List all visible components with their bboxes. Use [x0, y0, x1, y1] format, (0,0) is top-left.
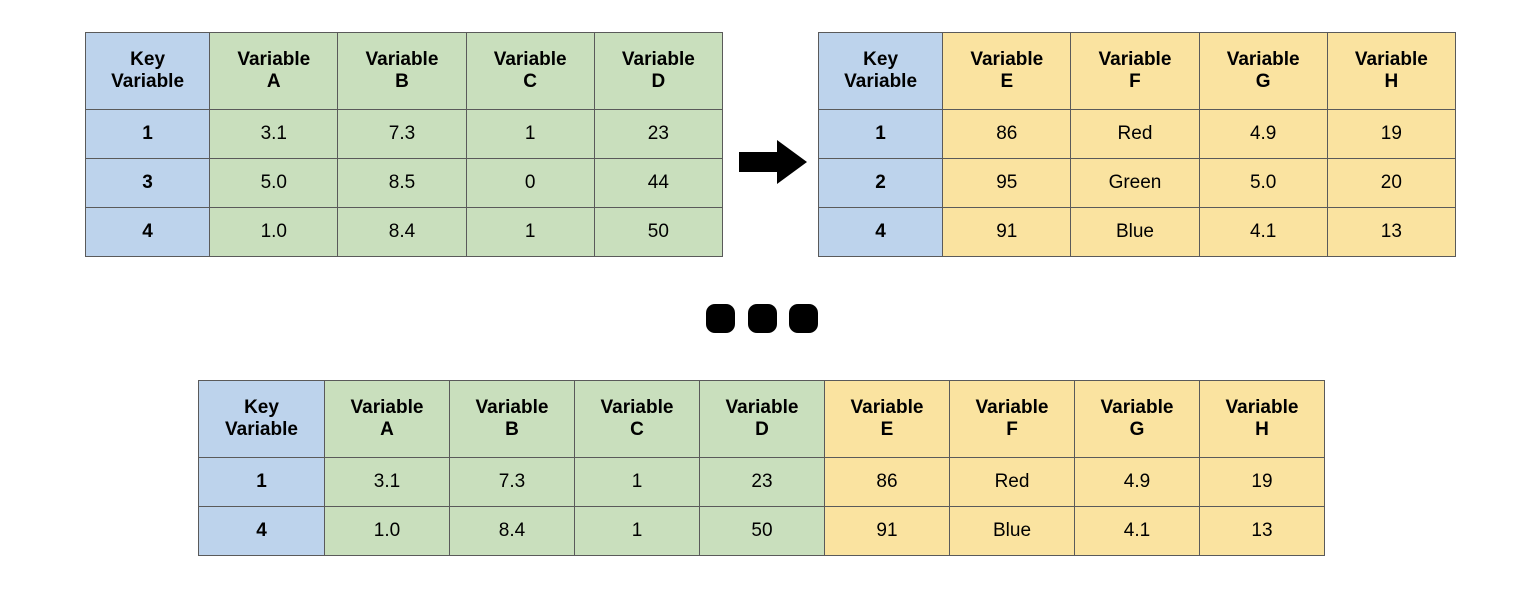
- table-left-r0-key: 1: [86, 110, 210, 159]
- table-left-r2-d: 50: [594, 208, 722, 257]
- table-right-header-key: Key Variable: [819, 33, 943, 110]
- table-left-header-d: Variable D: [594, 33, 722, 110]
- table-merged-r1-h: 13: [1200, 507, 1325, 556]
- table-right-r1-key: 2: [819, 159, 943, 208]
- table-left-r1-a: 5.0: [210, 159, 338, 208]
- table-left-r2-key: 4: [86, 208, 210, 257]
- table-left-r0-d: 23: [594, 110, 722, 159]
- table-left: Key Variable Variable A Variable B Varia…: [85, 32, 723, 257]
- ellipsis-icon: [706, 303, 818, 333]
- table-right-r1-e: 95: [943, 159, 1071, 208]
- table-merged-header-f: Variable F: [950, 381, 1075, 458]
- table-merged-r0-h: 19: [1200, 458, 1325, 507]
- table-left-header-c: Variable C: [466, 33, 594, 110]
- table-left-r1-key: 3: [86, 159, 210, 208]
- ellipsis-dot-3: [789, 304, 818, 333]
- table-merged-header-e: Variable E: [825, 381, 950, 458]
- table-left-r2-a: 1.0: [210, 208, 338, 257]
- table-right-header-f: Variable F: [1071, 33, 1199, 110]
- table-merged-r1-g: 4.1: [1075, 507, 1200, 556]
- table-right-r2-g: 4.1: [1199, 208, 1327, 257]
- table-merged-r0-c: 1: [575, 458, 700, 507]
- table-merged-header-c: Variable C: [575, 381, 700, 458]
- table-left-r1-d: 44: [594, 159, 722, 208]
- table-merged-r0-key: 1: [199, 458, 325, 507]
- table-merged-header-a: Variable A: [325, 381, 450, 458]
- table-merged-r1-e: 91: [825, 507, 950, 556]
- table-merged-header-d: Variable D: [700, 381, 825, 458]
- table-right-r0-h: 19: [1327, 110, 1455, 159]
- table-right-r1-g: 5.0: [1199, 159, 1327, 208]
- table-right-r2-f: Blue: [1071, 208, 1199, 257]
- table-right: Key Variable Variable E Variable F Varia…: [818, 32, 1456, 257]
- table-right-r0-g: 4.9: [1199, 110, 1327, 159]
- table-right-r2-key: 4: [819, 208, 943, 257]
- table-merged-r1-f: Blue: [950, 507, 1075, 556]
- table-right-r0-e: 86: [943, 110, 1071, 159]
- table-left-header-a: Variable A: [210, 33, 338, 110]
- table-left-header-b: Variable B: [338, 33, 466, 110]
- table-left-r0-a: 3.1: [210, 110, 338, 159]
- table-right-r2-h: 13: [1327, 208, 1455, 257]
- ellipsis-dot-2: [748, 304, 777, 333]
- table-merged-r0-a: 3.1: [325, 458, 450, 507]
- table-merged-header-h: Variable H: [1200, 381, 1325, 458]
- table-merged-r0-g: 4.9: [1075, 458, 1200, 507]
- table-row: 4 1.0 8.4 1 50: [86, 208, 723, 257]
- table-merged-header-key: Key Variable: [199, 381, 325, 458]
- table-row: 1 86 Red 4.9 19: [819, 110, 1456, 159]
- table-merged-r1-c: 1: [575, 507, 700, 556]
- table-left-header-row: Key Variable Variable A Variable B Varia…: [86, 33, 723, 110]
- diagram-canvas: Key Variable Variable A Variable B Varia…: [0, 0, 1522, 600]
- right-arrow-icon: [739, 140, 807, 184]
- table-row: 1 3.1 7.3 1 23 86 Red 4.9 19: [199, 458, 1325, 507]
- table-merged-header-row: Key Variable Variable A Variable B Varia…: [199, 381, 1325, 458]
- table-merged-r1-b: 8.4: [450, 507, 575, 556]
- table-right-r0-f: Red: [1071, 110, 1199, 159]
- table-merged-header-b: Variable B: [450, 381, 575, 458]
- table-row: 2 95 Green 5.0 20: [819, 159, 1456, 208]
- table-right-header-e: Variable E: [943, 33, 1071, 110]
- table-merged-r1-key: 4: [199, 507, 325, 556]
- table-row: 3 5.0 8.5 0 44: [86, 159, 723, 208]
- table-merged-r1-d: 50: [700, 507, 825, 556]
- table-left-r0-c: 1: [466, 110, 594, 159]
- table-left-r1-b: 8.5: [338, 159, 466, 208]
- table-left-header-key: Key Variable: [86, 33, 210, 110]
- table-row: 4 91 Blue 4.1 13: [819, 208, 1456, 257]
- table-left-r0-b: 7.3: [338, 110, 466, 159]
- table-left-r1-c: 0: [466, 159, 594, 208]
- table-row: 4 1.0 8.4 1 50 91 Blue 4.1 13: [199, 507, 1325, 556]
- table-right-header-g: Variable G: [1199, 33, 1327, 110]
- table-left-r2-c: 1: [466, 208, 594, 257]
- table-merged: Key Variable Variable A Variable B Varia…: [198, 380, 1325, 556]
- ellipsis-dot-1: [706, 304, 735, 333]
- table-right-header-row: Key Variable Variable E Variable F Varia…: [819, 33, 1456, 110]
- table-merged-r0-d: 23: [700, 458, 825, 507]
- table-right-r2-e: 91: [943, 208, 1071, 257]
- table-right-r0-key: 1: [819, 110, 943, 159]
- table-row: 1 3.1 7.3 1 23: [86, 110, 723, 159]
- table-merged-r1-a: 1.0: [325, 507, 450, 556]
- table-right-header-h: Variable H: [1327, 33, 1455, 110]
- table-right-r1-h: 20: [1327, 159, 1455, 208]
- table-merged-r0-f: Red: [950, 458, 1075, 507]
- table-left-r2-b: 8.4: [338, 208, 466, 257]
- table-merged-r0-b: 7.3: [450, 458, 575, 507]
- table-merged-header-g: Variable G: [1075, 381, 1200, 458]
- table-merged-r0-e: 86: [825, 458, 950, 507]
- table-right-r1-f: Green: [1071, 159, 1199, 208]
